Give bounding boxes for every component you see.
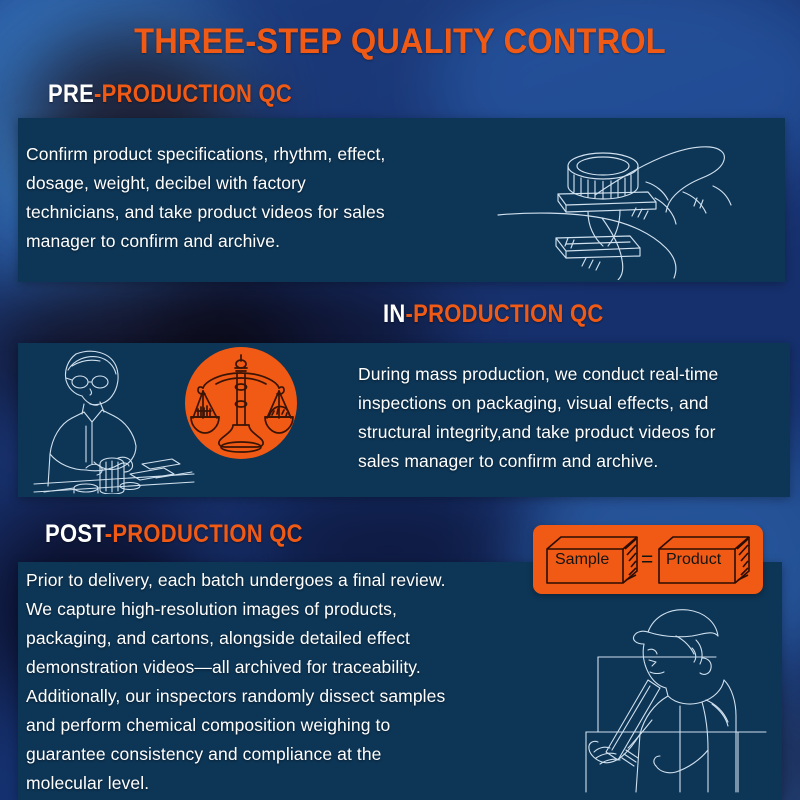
sample-label: Sample bbox=[555, 551, 609, 569]
section-heading-post-production: POST-PRODUCTION QC bbox=[45, 520, 303, 549]
equals-sign: = bbox=[641, 548, 653, 572]
section-heading-in-production: IN-PRODUCTION QC bbox=[383, 300, 604, 329]
balance-scale-icon bbox=[185, 347, 297, 459]
heading-white-part: PRE bbox=[48, 80, 94, 108]
body-text-in-production: During mass production, we conduct real-… bbox=[358, 360, 788, 476]
page-title: THREE-STEP QUALITY CONTROL bbox=[28, 22, 772, 62]
heading-orange-part: -PRODUCTION QC bbox=[94, 80, 292, 108]
product-label: Product bbox=[666, 551, 721, 569]
worker-inspecting-sketch-icon bbox=[24, 346, 199, 494]
inspector-with-tablet-sketch-icon bbox=[556, 592, 781, 798]
heading-orange-part: -PRODUCTION QC bbox=[105, 520, 303, 548]
body-text-post-production: Prior to delivery, each batch undergoes … bbox=[26, 566, 526, 798]
body-text-pre-production: Confirm product specifications, rhythm, … bbox=[26, 140, 486, 256]
section-heading-pre-production: PRE-PRODUCTION QC bbox=[48, 80, 292, 109]
heading-white-part: IN bbox=[383, 300, 406, 328]
hand-holding-device-sketch-icon bbox=[470, 120, 780, 280]
heading-orange-part: -PRODUCTION QC bbox=[406, 300, 604, 328]
sample-equals-product-badge: Sample = Product bbox=[533, 525, 763, 594]
heading-white-part: POST bbox=[45, 520, 105, 548]
